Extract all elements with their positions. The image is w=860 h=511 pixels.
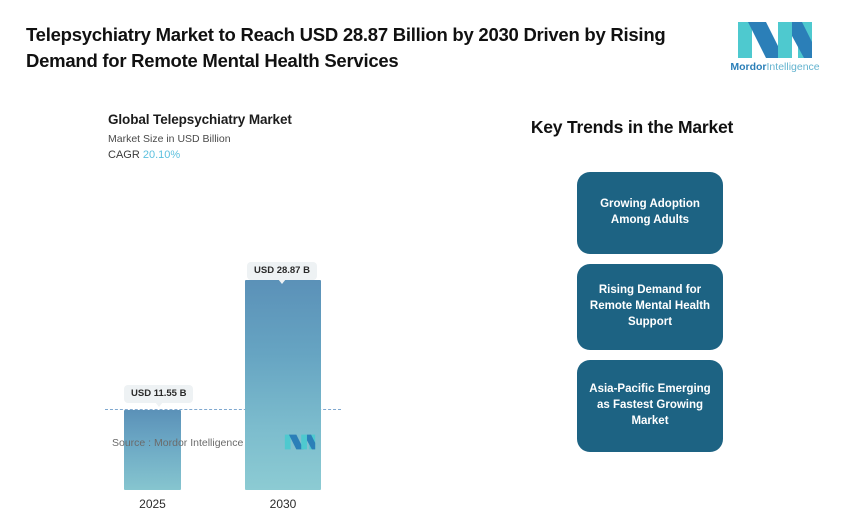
brand-wordmark: MordorIntelligence [714,62,836,73]
source-label: Source : Mordor Intelligence [112,437,243,449]
trend-card-growing-adoption[interactable]: Growing Adoption Among Adults [577,172,723,254]
x-axis-tick-2030: 2030 [245,497,321,511]
x-axis-tick-2025: 2025 [124,497,181,511]
mordor-monogram-icon-small [284,433,316,451]
key-trends-title: Key Trends in the Market [430,117,834,138]
trend-card-label: Rising Demand for Remote Mental Health S… [587,283,713,331]
trend-card-rising-demand[interactable]: Rising Demand for Remote Mental Health S… [577,264,723,350]
brand-name-bold: Mordor [730,61,766,73]
value-label-2030: USD 28.87 B [247,262,317,280]
trend-card-label: Asia-Pacific Emerging as Fastest Growing… [587,382,713,430]
trend-card-label: Growing Adoption Among Adults [587,197,713,229]
page-title: Telepsychiatry Market to Reach USD 28.87… [26,22,696,75]
chart-plot-area: USD 11.55 B USD 28.87 B 2025 2030 [0,92,430,432]
mordor-intelligence-logo: MordorIntelligence [714,20,836,78]
brand-name-light: Intelligence [767,61,820,73]
key-trends-panel: Key Trends in the Market Growing Adoptio… [430,92,860,473]
bar-2030 [245,280,321,490]
value-label-2025: USD 11.55 B [124,385,193,403]
page-header: Telepsychiatry Market to Reach USD 28.87… [0,0,860,92]
chart-source-row: Source : Mordor Intelligence [112,433,342,457]
market-size-chart: Global Telepsychiatry Market Market Size… [0,92,430,473]
trend-card-asia-pacific[interactable]: Asia-Pacific Emerging as Fastest Growing… [577,360,723,452]
mordor-monogram-icon [736,20,814,60]
